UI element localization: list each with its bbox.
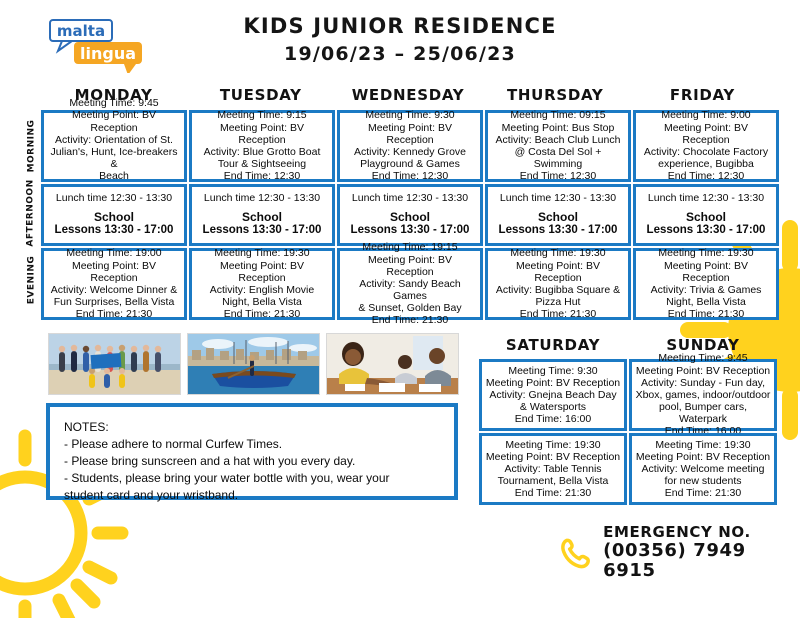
cell-sunday-morning: Meeting Time: 9:45 Meeting Point: BV Rec… (629, 359, 777, 431)
day-header-thursday: THURSDAY (482, 86, 629, 104)
svg-text:lingua: lingua (80, 44, 136, 63)
emergency-number: (00356) 7949 6915 (603, 541, 800, 582)
photo-classroom-students (326, 333, 459, 395)
maltalingua-logo: malta lingua (48, 18, 150, 73)
notes-text: NOTES: - Please adhere to normal Curfew … (64, 419, 440, 504)
row-label-morning: MORNING (22, 110, 40, 182)
cell-saturday-morning: Meeting Time: 9:30 Meeting Point: BV Rec… (479, 359, 627, 431)
emergency-contact: EMERGENCY NO. (00356) 7949 6915 (558, 524, 800, 582)
day-header-sunday: SUNDAY (628, 336, 778, 354)
morning-row: Meeting Time: 9:45 Meeting Point: BV Rec… (40, 110, 780, 184)
weekend-morning-row: Meeting Time: 9:30 Meeting Point: BV Rec… (478, 359, 778, 433)
day-header-wednesday: WEDNESDAY (334, 86, 481, 104)
photo-beach-group (48, 333, 181, 395)
cell-thursday-morning: Meeting Time: 09:15 Meeting Point: Bus S… (485, 110, 631, 182)
notes-box: NOTES: - Please adhere to normal Curfew … (46, 403, 458, 500)
phone-icon (558, 535, 593, 571)
row-label-evening: EVENING (22, 244, 40, 316)
cell-monday-morning: Meeting Time: 9:45 Meeting Point: BV Rec… (41, 110, 187, 182)
row-label-afternoon: AFTERNOON (22, 182, 40, 244)
cell-wednesday-afternoon: Lunch time 12:30 - 13:30 School Lessons … (337, 184, 483, 246)
cell-thursday-afternoon: Lunch time 12:30 - 13:30 School Lessons … (485, 184, 631, 246)
cell-sunday-evening: Meeting Time: 19:30 Meeting Point: BV Re… (629, 433, 777, 505)
time-of-day-labels: MORNING AFTERNOON EVENING (22, 110, 40, 322)
day-header-saturday: SATURDAY (478, 336, 628, 354)
weekend-evening-row: Meeting Time: 19:30 Meeting Point: BV Re… (478, 433, 778, 507)
weekend-schedule-grid: Meeting Time: 9:30 Meeting Point: BV Rec… (478, 359, 778, 507)
photo-luzzu-boat (187, 333, 320, 395)
cell-wednesday-morning: Meeting Time: 9:30 Meeting Point: BV Rec… (337, 110, 483, 182)
svg-text:malta: malta (57, 22, 105, 40)
cell-wednesday-evening: Meeting Time: 19:15 Meeting Point: BV Re… (337, 248, 483, 320)
day-header-tuesday: TUESDAY (187, 86, 334, 104)
cell-monday-evening: Meeting Time: 19:00 Meeting Point: BV Re… (41, 248, 187, 320)
photo-strip (48, 333, 459, 395)
activity-schedule-poster: malta lingua KIDS JUNIOR RESIDENCE 19/06… (0, 0, 800, 618)
cell-saturday-evening: Meeting Time: 19:30 Meeting Point: BV Re… (479, 433, 627, 505)
afternoon-row: Lunch time 12:30 - 13:30 School Lessons … (40, 184, 780, 248)
cell-tuesday-afternoon: Lunch time 12:30 - 13:30 School Lessons … (189, 184, 335, 246)
cell-monday-afternoon: Lunch time 12:30 - 13:30 School Lessons … (41, 184, 187, 246)
cell-friday-morning: Meeting Time: 9:00 Meeting Point: BV Rec… (633, 110, 779, 182)
cell-tuesday-morning: Meeting Time: 9:15 Meeting Point: BV Rec… (189, 110, 335, 182)
cell-thursday-evening: Meeting Time: 19:30 Meeting Point: BV Re… (485, 248, 631, 320)
day-header-friday: FRIDAY (629, 86, 776, 104)
day-header-monday: MONDAY (40, 86, 187, 104)
weekday-header-row: MONDAY TUESDAY WEDNESDAY THURSDAY FRIDAY (40, 86, 776, 104)
cell-friday-afternoon: Lunch time 12:30 - 13:30 School Lessons … (633, 184, 779, 246)
weekday-schedule-grid: MORNING AFTERNOON EVENING Meeting Time: … (22, 110, 780, 322)
weekend-header-row: SATURDAY SUNDAY (478, 336, 778, 354)
evening-row: Meeting Time: 19:00 Meeting Point: BV Re… (40, 248, 780, 322)
cell-friday-evening: Meeting Time: 19:30 Meeting Point: BV Re… (633, 248, 779, 320)
cell-tuesday-evening: Meeting Time: 19:30 Meeting Point: BV Re… (189, 248, 335, 320)
emergency-label: EMERGENCY NO. (603, 524, 800, 541)
